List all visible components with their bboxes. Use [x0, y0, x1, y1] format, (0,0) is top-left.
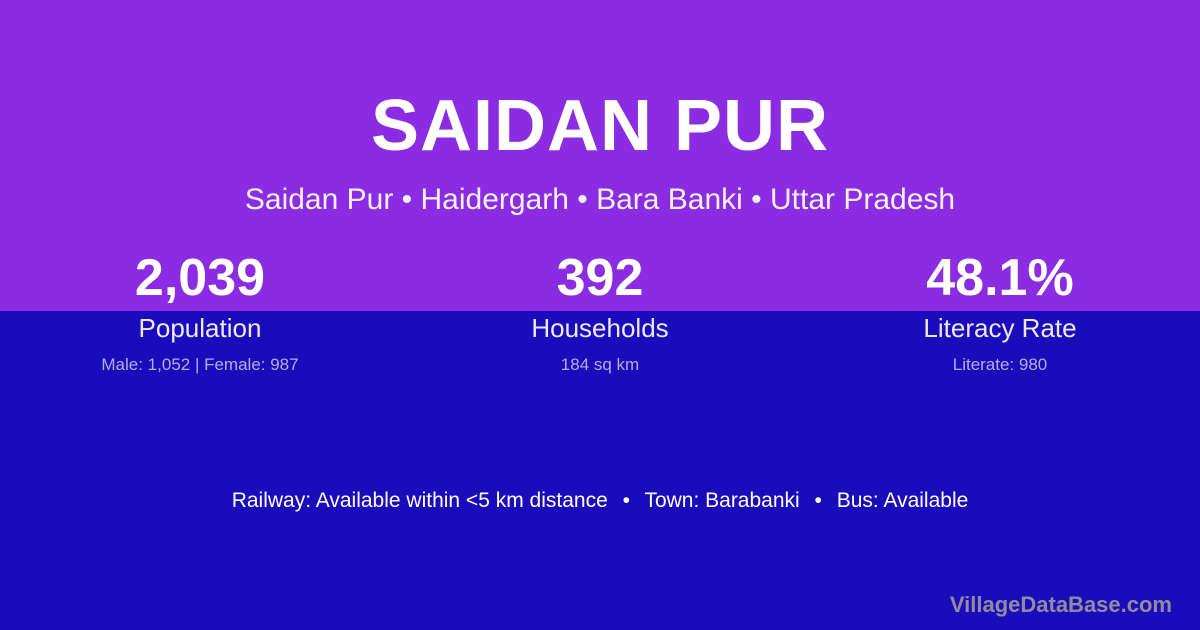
stats-row: 2,039 Population Male: 1,052 | Female: 9…: [0, 246, 1200, 377]
amenity-bus: Bus: Available: [837, 489, 969, 512]
stat-label-literacy-rate: Literacy Rate: [800, 312, 1200, 344]
stat-sub-literacy-rate: Literate: 980: [800, 353, 1200, 377]
stat-label-population: Population: [0, 312, 400, 344]
bullet-separator-icon-2: •: [806, 489, 831, 512]
bullet-separator-icon: •: [614, 489, 639, 512]
stat-value-literacy-rate: 48.1%: [800, 246, 1200, 310]
amenity-town: Town: Barabanki: [644, 489, 799, 512]
stat-value-population: 2,039: [0, 246, 400, 310]
site-watermark: VillageDataBase.com: [950, 591, 1172, 619]
page-title: SAIDAN PUR: [0, 84, 1200, 168]
stat-sub-households: 184 sq km: [400, 353, 800, 377]
stat-label-households: Households: [400, 312, 800, 344]
amenities-line: Railway: Available within <5 km distance…: [0, 487, 1200, 515]
village-info-card: SAIDAN PUR Saidan Pur • Haidergarh • Bar…: [0, 0, 1200, 630]
stat-value-households: 392: [400, 246, 800, 310]
amenity-railway: Railway: Available within <5 km distance: [232, 489, 608, 512]
breadcrumb: Saidan Pur • Haidergarh • Bara Banki • U…: [0, 182, 1200, 218]
stat-population: 2,039 Population Male: 1,052 | Female: 9…: [0, 246, 400, 377]
stat-households: 392 Households 184 sq km: [400, 246, 800, 377]
stat-sub-population: Male: 1,052 | Female: 987: [0, 353, 400, 377]
stat-literacy-rate: 48.1% Literacy Rate Literate: 980: [800, 246, 1200, 377]
